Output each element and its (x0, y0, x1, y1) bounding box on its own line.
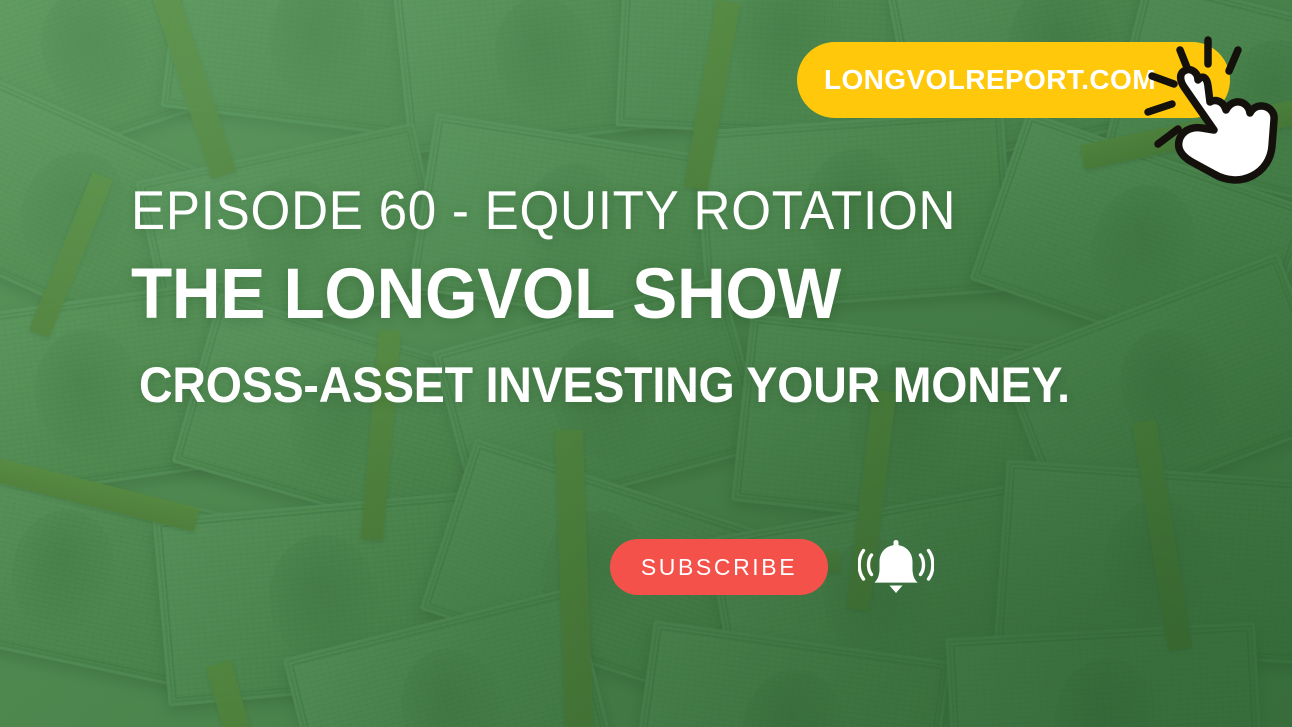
bell-shape (874, 540, 917, 593)
subscribe-row: SUBSCRIBE (610, 536, 934, 598)
title-block: EPISODE 60 - EQUITY ROTATION THE LONGVOL… (131, 182, 1140, 410)
subscribe-button[interactable]: SUBSCRIBE (610, 539, 828, 595)
show-tagline: CROSS-ASSET INVESTING YOUR MONEY. (139, 360, 1070, 410)
subscribe-label: SUBSCRIBE (641, 554, 797, 581)
website-cta-label: LONGVOLREPORT.COM (824, 64, 1156, 96)
episode-eyebrow: EPISODE 60 - EQUITY ROTATION (131, 182, 1069, 239)
website-cta-button[interactable]: LONGVOLREPORT.COM (797, 42, 1230, 118)
video-thumbnail-canvas: LONGVOLREPORT.COM EPISODE 60 - EQUITY RO… (0, 0, 1292, 727)
notification-bell-ringing-icon[interactable] (858, 536, 934, 598)
show-title: THE LONGVOL SHOW (131, 259, 1090, 330)
